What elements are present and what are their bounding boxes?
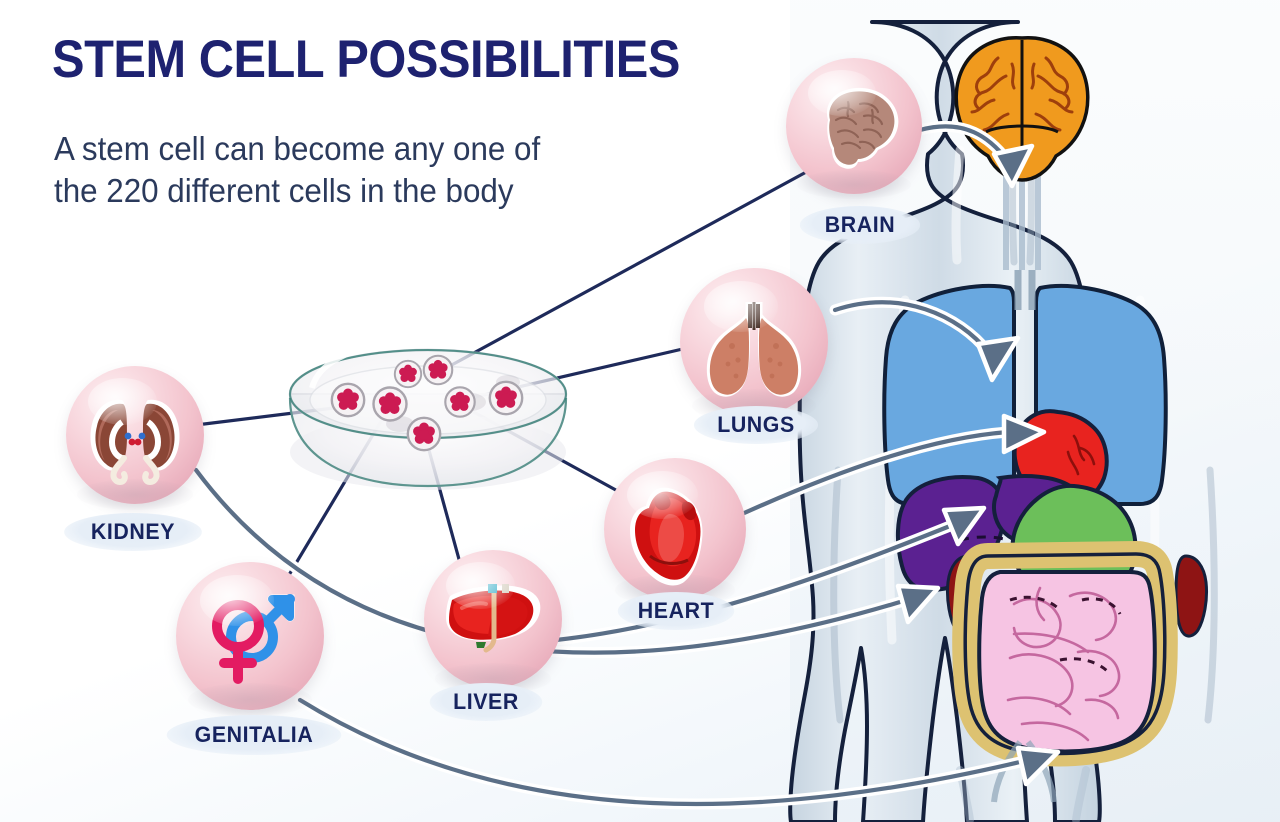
label-kidney-text: KIDNEY xyxy=(91,519,175,545)
label-heart-text: HEART xyxy=(638,598,714,624)
page-subtitle: A stem cell can become any one of the 22… xyxy=(54,128,586,212)
bubble-heart[interactable] xyxy=(604,458,746,600)
label-brain: BRAIN xyxy=(800,206,920,244)
bubble-lungs[interactable] xyxy=(680,268,828,416)
label-lungs: LUNGS xyxy=(694,406,818,444)
heart-organ-icon xyxy=(604,458,746,600)
label-kidney: KIDNEY xyxy=(64,513,202,551)
infographic-canvas: STEM CELL POSSIBILITIES A stem cell can … xyxy=(0,0,1280,822)
label-genitalia-text: GENITALIA xyxy=(195,722,314,748)
liver-organ-icon xyxy=(424,550,562,688)
label-genitalia: GENITALIA xyxy=(167,715,342,755)
label-lungs-text: LUNGS xyxy=(717,412,795,438)
bubble-brain[interactable] xyxy=(786,58,922,194)
gender-symbols-icon xyxy=(176,562,324,710)
label-heart: HEART xyxy=(618,592,734,630)
petri-dish xyxy=(290,340,566,490)
label-liver-text: LIVER xyxy=(453,689,519,715)
label-liver: LIVER xyxy=(430,683,543,721)
bubble-liver[interactable] xyxy=(424,550,562,688)
label-brain-text: BRAIN xyxy=(825,212,895,238)
small-intestine-organ xyxy=(979,572,1155,752)
brain-organ-icon xyxy=(786,58,922,194)
bubble-kidney[interactable] xyxy=(66,366,204,504)
page-title: STEM CELL POSSIBILITIES xyxy=(52,33,680,86)
bubble-genitalia[interactable] xyxy=(176,562,324,710)
lungs-organ-icon xyxy=(680,268,828,416)
kidney-organ-icon xyxy=(66,366,204,504)
